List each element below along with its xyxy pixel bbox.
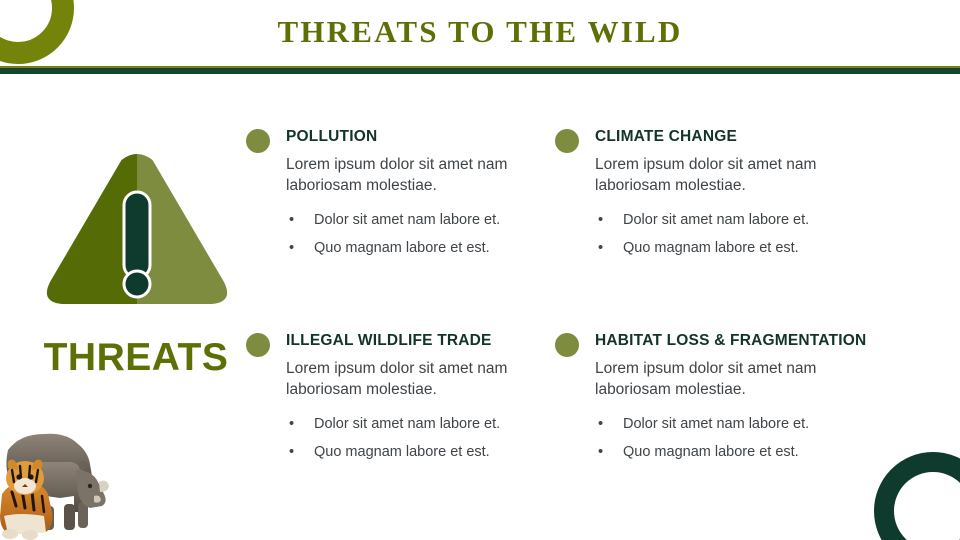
threat-description: Lorem ipsum dolor sit amet nam laboriosa… [286,154,551,196]
list-item-label: Dolor sit amet nam labore et. [314,212,500,228]
threats-caption: THREATS [36,336,236,380]
threat-block-climate-change: CLIMATE CHANGE Lorem ipsum dolor sit ame… [555,128,950,262]
threat-block-body: CLIMATE CHANGE Lorem ipsum dolor sit ame… [595,128,950,262]
list-item: • Quo magnam labore et est. [595,438,950,466]
threat-heading: CLIMATE CHANGE [595,128,950,146]
bullet-dot-icon: • [598,410,603,438]
threat-description: Lorem ipsum dolor sit amet nam laboriosa… [595,358,860,400]
threat-block-body: ILLEGAL WILDLIFE TRADE Lorem ipsum dolor… [286,332,576,466]
threat-heading: HABITAT LOSS & FRAGMENTATION [595,332,950,350]
list-item-label: Dolor sit amet nam labore et. [623,416,809,432]
list-item-label: Dolor sit amet nam labore et. [623,212,809,228]
threat-bullet-list: • Dolor sit amet nam labore et. • Quo ma… [595,410,950,466]
threat-heading: ILLEGAL WILDLIFE TRADE [286,332,576,350]
threat-block-pollution: POLLUTION Lorem ipsum dolor sit amet nam… [246,128,576,262]
list-item: • Dolor sit amet nam labore et. [595,410,950,438]
bullet-marker-circle-icon [555,333,579,357]
threat-description: Lorem ipsum dolor sit amet nam laboriosa… [286,358,551,400]
threat-bullet-list: • Dolor sit amet nam labore et. • Quo ma… [286,410,576,466]
bullet-dot-icon: • [289,206,294,234]
list-item: • Dolor sit amet nam labore et. [595,206,950,234]
list-item-label: Dolor sit amet nam labore et. [314,416,500,432]
list-item: • Quo magnam labore et est. [286,234,576,262]
exclamation-mark-icon [124,192,150,297]
threat-heading: POLLUTION [286,128,576,146]
header-divider-thick [0,68,960,74]
bullet-dot-icon: • [289,234,294,262]
threat-description: Lorem ipsum dolor sit amet nam laboriosa… [595,154,860,196]
bullet-marker-circle-icon [246,129,270,153]
bullet-marker-circle-icon [246,333,270,357]
warning-triangle-icon [44,150,230,312]
bullet-dot-icon: • [598,234,603,262]
list-item: • Dolor sit amet nam labore et. [286,206,576,234]
threat-block-body: POLLUTION Lorem ipsum dolor sit amet nam… [286,128,576,262]
list-item: • Quo magnam labore et est. [595,234,950,262]
threat-block-habitat-loss: HABITAT LOSS & FRAGMENTATION Lorem ipsum… [555,332,950,466]
bullet-dot-icon: • [289,438,294,466]
threat-bullet-list: • Dolor sit amet nam labore et. • Quo ma… [286,206,576,262]
bullet-dot-icon: • [598,438,603,466]
bullet-dot-icon: • [289,410,294,438]
slide-canvas: THREATS TO THE WILD THREATS [0,0,960,540]
threat-block-body: HABITAT LOSS & FRAGMENTATION Lorem ipsum… [595,332,950,466]
list-item-label: Quo magnam labore et est. [623,444,799,460]
bullet-marker-circle-icon [555,129,579,153]
bullet-dot-icon: • [598,206,603,234]
list-item-label: Quo magnam labore et est. [623,240,799,256]
rhino-and-tiger-photo [0,420,110,540]
list-item-label: Quo magnam labore et est. [314,240,490,256]
list-item: • Quo magnam labore et est. [286,438,576,466]
list-item: • Dolor sit amet nam labore et. [286,410,576,438]
threat-bullet-list: • Dolor sit amet nam labore et. • Quo ma… [595,206,950,262]
page-title: THREATS TO THE WILD [0,14,960,50]
list-item-label: Quo magnam labore et est. [314,444,490,460]
threat-block-illegal-wildlife-trade: ILLEGAL WILDLIFE TRADE Lorem ipsum dolor… [246,332,576,466]
